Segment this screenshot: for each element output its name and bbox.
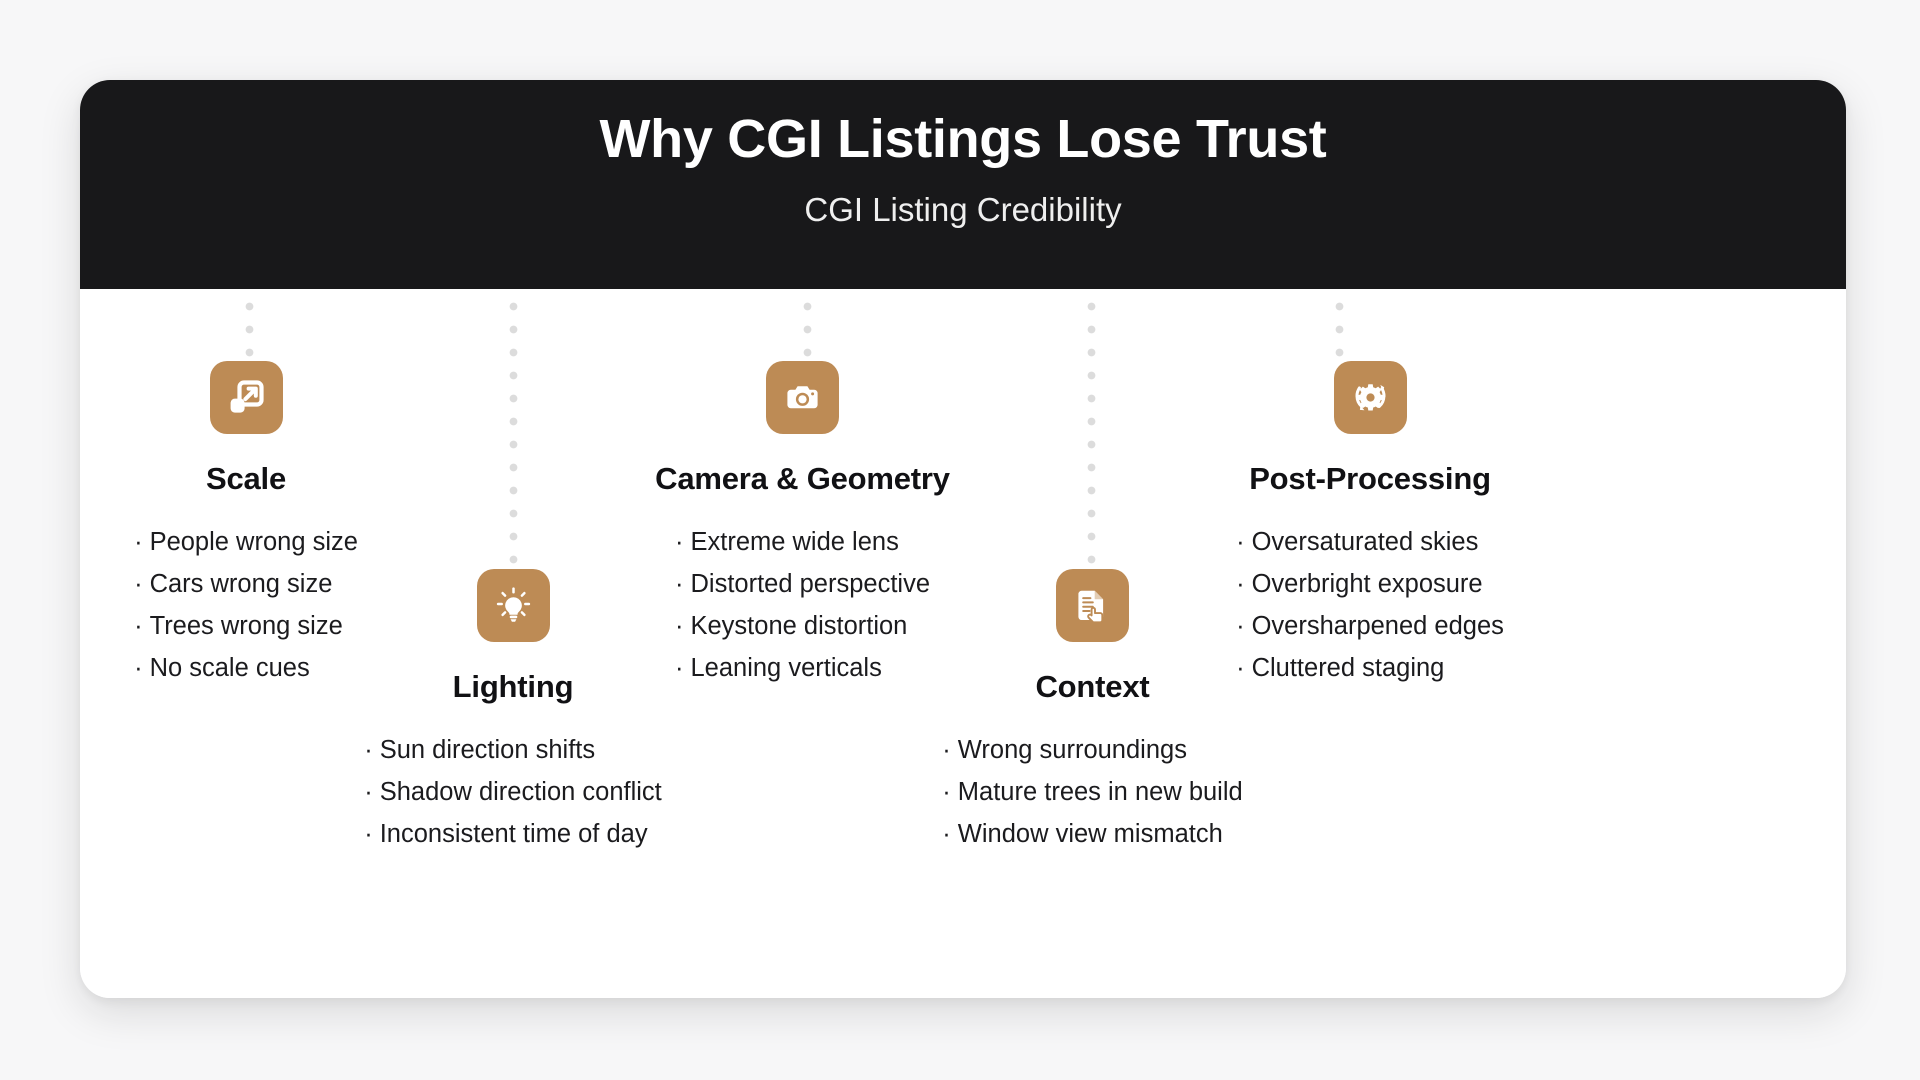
gear-refresh-icon xyxy=(1334,361,1407,434)
list-item: ·Keystone distortion xyxy=(675,605,930,647)
list-item: ·Overbright exposure xyxy=(1236,563,1504,605)
column-list-context: ·Wrong surroundings ·Mature trees in new… xyxy=(942,729,1242,855)
list-item-label: Distorted perspective xyxy=(690,570,930,598)
document-hand-icon xyxy=(1056,569,1129,642)
column-list-lighting: ·Sun direction shifts ·Shadow direction … xyxy=(364,729,662,855)
column-title-post-processing: Post-Processing xyxy=(1249,461,1491,497)
list-item: ·Oversharpened edges xyxy=(1236,605,1504,647)
card-body: Scale ·People wrong size ·Cars wrong siz… xyxy=(80,289,1846,998)
column-title-camera-geometry: Camera & Geometry xyxy=(655,461,950,497)
list-item: ·Shadow direction conflict xyxy=(364,771,662,813)
list-item-label: Mature trees in new build xyxy=(958,778,1243,806)
connector-line-camera-geometry xyxy=(802,295,813,359)
list-item-label: Extreme wide lens xyxy=(690,528,898,556)
column-lighting: Lighting ·Sun direction shifts ·Shadow d… xyxy=(358,569,668,855)
lightbulb-icon xyxy=(477,569,550,642)
list-item-label: Inconsistent time of day xyxy=(380,820,648,848)
bullet-glyph: · xyxy=(364,820,373,848)
list-item: ·Cars wrong size xyxy=(134,563,358,605)
page-title: Why CGI Listings Lose Trust xyxy=(600,108,1327,172)
list-item: ·Oversaturated skies xyxy=(1236,521,1504,563)
camera-icon xyxy=(766,361,839,434)
bullet-glyph: · xyxy=(134,612,143,640)
list-item-label: Cluttered staging xyxy=(1252,654,1445,682)
column-post-processing: Post-Processing ·Oversaturated skies ·Ov… xyxy=(1210,361,1530,689)
connector-line-context xyxy=(1086,295,1097,567)
column-list-scale: ·People wrong size ·Cars wrong size ·Tre… xyxy=(134,521,358,689)
list-item-label: Window view mismatch xyxy=(958,820,1223,848)
column-title-lighting: Lighting xyxy=(453,669,574,705)
list-item: ·Cluttered staging xyxy=(1236,647,1504,689)
connector-line-post-processing xyxy=(1334,295,1345,359)
list-item: ·Leaning verticals xyxy=(675,647,930,689)
list-item-label: Sun direction shifts xyxy=(380,736,595,764)
list-item: ·Sun direction shifts xyxy=(364,729,662,771)
column-scale: Scale ·People wrong size ·Cars wrong siz… xyxy=(116,361,376,689)
list-item-label: Cars wrong size xyxy=(150,570,333,598)
page-subtitle: CGI Listing Credibility xyxy=(804,189,1121,232)
list-item: ·Wrong surroundings xyxy=(942,729,1242,771)
bullet-glyph: · xyxy=(364,736,373,764)
column-list-camera-geometry: ·Extreme wide lens ·Distorted perspectiv… xyxy=(675,521,930,689)
bullet-glyph: · xyxy=(1236,612,1245,640)
list-item-label: Oversaturated skies xyxy=(1252,528,1479,556)
bullet-glyph: · xyxy=(942,778,951,806)
list-item-label: Overbright exposure xyxy=(1252,570,1483,598)
bullet-glyph: · xyxy=(675,528,684,556)
list-item-label: Oversharpened edges xyxy=(1252,612,1504,640)
bullet-glyph: · xyxy=(1236,528,1245,556)
bullet-glyph: · xyxy=(675,654,684,682)
list-item: ·Inconsistent time of day xyxy=(364,813,662,855)
bullet-glyph: · xyxy=(942,736,951,764)
connector-line-lighting xyxy=(508,295,519,567)
bullet-glyph: · xyxy=(1236,570,1245,598)
list-item-label: Keystone distortion xyxy=(690,612,907,640)
bullet-glyph: · xyxy=(134,570,143,598)
list-item-label: People wrong size xyxy=(150,528,358,556)
column-camera-geometry: Camera & Geometry ·Extreme wide lens ·Di… xyxy=(645,361,960,689)
list-item: ·Mature trees in new build xyxy=(942,771,1242,813)
infographic-canvas: Why CGI Listings Lose Trust CGI Listing … xyxy=(0,0,1920,1080)
list-item-label: Trees wrong size xyxy=(150,612,343,640)
bullet-glyph: · xyxy=(134,528,143,556)
bullet-glyph: · xyxy=(675,612,684,640)
list-item-label: Leaning verticals xyxy=(690,654,881,682)
list-item: ·Extreme wide lens xyxy=(675,521,930,563)
column-title-context: Context xyxy=(1036,669,1150,705)
list-item: ·Window view mismatch xyxy=(942,813,1242,855)
connector-line-scale xyxy=(244,295,255,359)
list-item: ·No scale cues xyxy=(134,647,358,689)
list-item: ·Distorted perspective xyxy=(675,563,930,605)
infographic-card: Why CGI Listings Lose Trust CGI Listing … xyxy=(80,80,1846,998)
bullet-glyph: · xyxy=(364,778,373,806)
list-item: ·People wrong size xyxy=(134,521,358,563)
list-item-label: Shadow direction conflict xyxy=(380,778,662,806)
bullet-glyph: · xyxy=(1236,654,1245,682)
card-header: Why CGI Listings Lose Trust CGI Listing … xyxy=(80,80,1846,289)
column-list-post-processing: ·Oversaturated skies ·Overbright exposur… xyxy=(1236,521,1504,689)
list-item: ·Trees wrong size xyxy=(134,605,358,647)
bullet-glyph: · xyxy=(134,654,143,682)
column-title-scale: Scale xyxy=(206,461,286,497)
bullet-glyph: · xyxy=(675,570,684,598)
column-context: Context ·Wrong surroundings ·Mature tree… xyxy=(950,569,1235,855)
list-item-label: No scale cues xyxy=(150,654,310,682)
resize-expand-icon xyxy=(210,361,283,434)
bullet-glyph: · xyxy=(942,820,951,848)
list-item-label: Wrong surroundings xyxy=(958,736,1187,764)
